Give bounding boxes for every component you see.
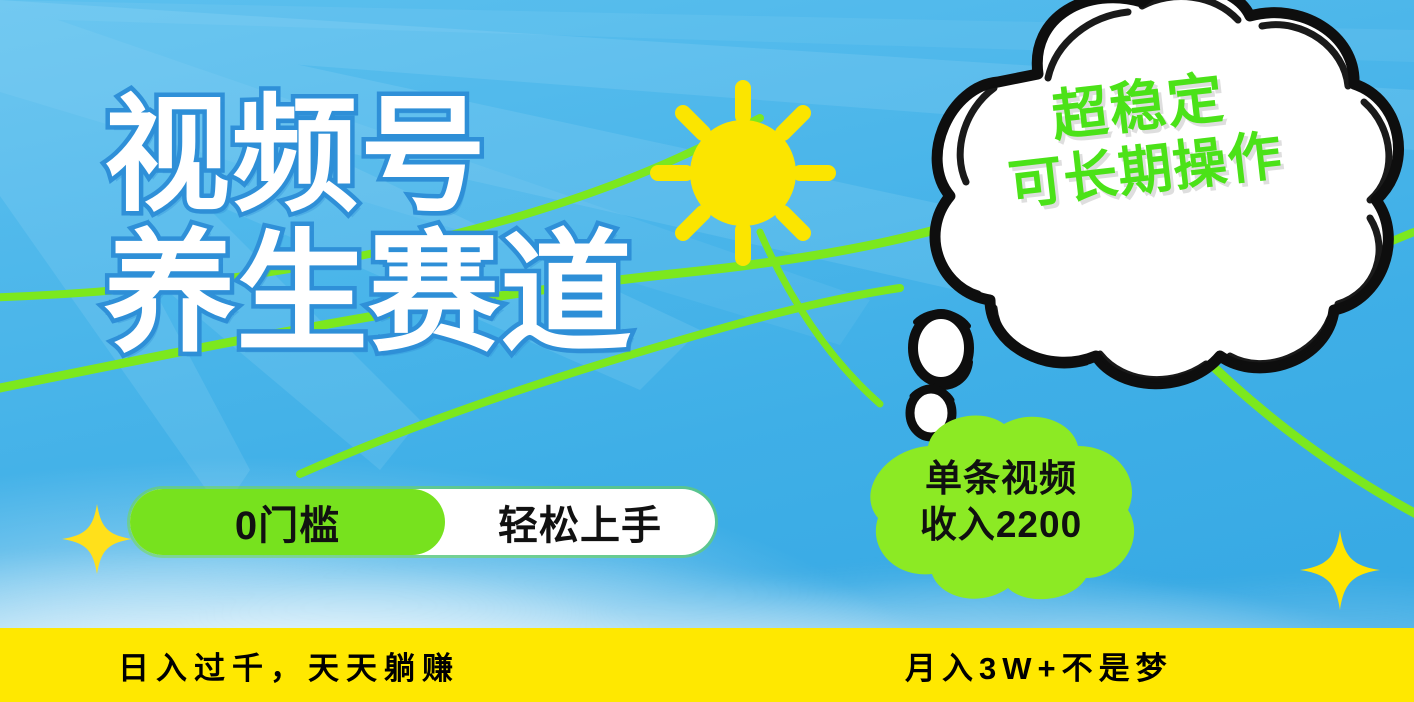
footer-banner: 日入过千，天天躺赚 月入3W+不是梦 (0, 628, 1414, 702)
footer-right-text: 月入3W+不是梦 (905, 643, 1173, 688)
pill-label-easy-start: 轻松上手 (445, 489, 715, 555)
title-line-2: 养生赛道 (104, 231, 804, 358)
income-blob: 单条视频 收入2200 (856, 412, 1146, 602)
income-blob-line-2: 收入2200 (856, 502, 1146, 548)
income-blob-text: 单条视频 收入2200 (856, 456, 1146, 549)
footer-left-text: 日入过千，天天躺赚 (118, 643, 460, 688)
sparkle-icon-right (1298, 528, 1382, 612)
poster-canvas: 视频号 养生赛道 0门槛 轻松上手 (0, 0, 1414, 702)
pill-label-zero-barrier: 0门槛 (130, 489, 445, 555)
sparkle-icon-left (60, 502, 134, 576)
title-line-1: 视频号 (104, 96, 804, 217)
poster-title: 视频号 养生赛道 (104, 96, 804, 358)
income-blob-line-1: 单条视频 (856, 456, 1146, 502)
